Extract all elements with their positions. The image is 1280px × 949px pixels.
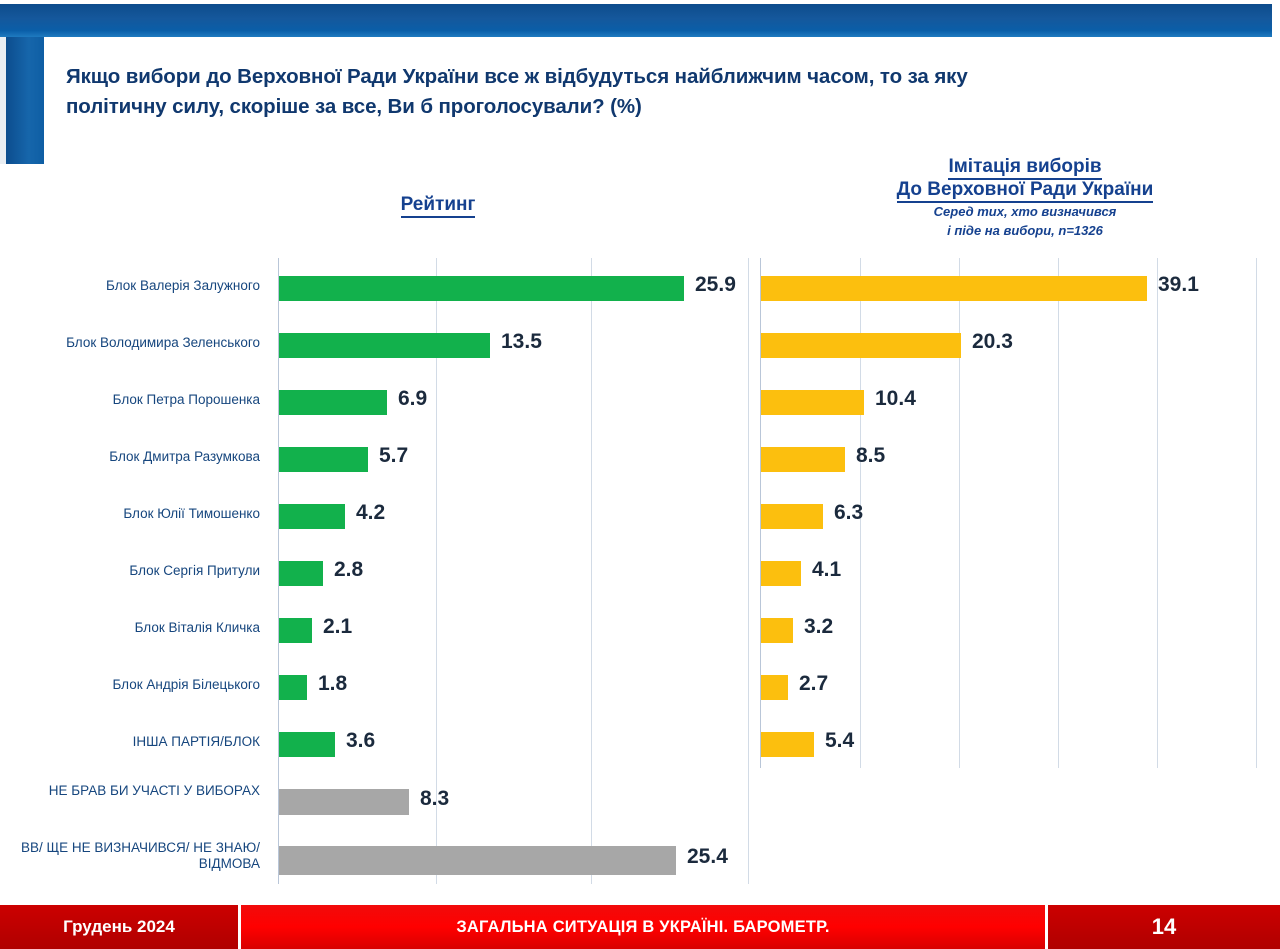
chart-right-header: Імітація виборів До Верховної Ради Украї… bbox=[790, 155, 1260, 239]
bar-value-label-left: 25.9 bbox=[695, 273, 736, 297]
slide-root: Якщо вибори до Верховної Ради України вс… bbox=[0, 0, 1280, 949]
chart-right-plot-area: 39.120.310.48.56.34.13.22.75.4 bbox=[760, 258, 1260, 768]
category-label: Блок Дмитра Разумкова bbox=[0, 449, 260, 465]
bar-left bbox=[279, 789, 409, 815]
bar-value-label-right: 10.4 bbox=[875, 387, 916, 411]
gridline-right-3 bbox=[1157, 258, 1158, 768]
bar-right bbox=[761, 504, 823, 529]
chart-left-plot-area: 25.913.56.95.74.22.82.11.83.68.325.4 bbox=[278, 258, 748, 884]
category-label: Блок Юлії Тимошенко bbox=[0, 506, 260, 522]
gridline-left-1 bbox=[591, 258, 592, 884]
bar-left bbox=[279, 846, 676, 875]
bar-left bbox=[279, 618, 312, 643]
bar-right bbox=[761, 447, 845, 472]
bar-left bbox=[279, 447, 368, 472]
bar-left bbox=[279, 561, 323, 586]
bar-value-label-left: 6.9 bbox=[398, 387, 427, 411]
bar-value-label-right: 2.7 bbox=[799, 672, 828, 696]
chart-left-header: Рейтинг bbox=[338, 194, 538, 216]
gridline-right-4 bbox=[1256, 258, 1257, 768]
category-label: Блок Валерія Залужного bbox=[0, 278, 260, 294]
category-label: ВВ/ ЩЕ НЕ ВИЗНАЧИВСЯ/ НЕ ЗНАЮ/ ВІДМОВА bbox=[0, 840, 260, 872]
category-label: Блок Сергія Притули bbox=[0, 563, 260, 579]
gridline-right-2 bbox=[1058, 258, 1059, 768]
bar-value-label-left: 5.7 bbox=[379, 444, 408, 468]
bar-value-label-right: 3.2 bbox=[804, 615, 833, 639]
chart-right-subtitle-line1: Серед тих, хто визначився bbox=[790, 204, 1260, 220]
bar-value-label-right: 8.5 bbox=[856, 444, 885, 468]
bar-value-label-left: 2.1 bbox=[323, 615, 352, 639]
category-label: Блок Петра Порошенка bbox=[0, 392, 260, 408]
bar-value-label-right: 4.1 bbox=[812, 558, 841, 582]
page-title: Якщо вибори до Верховної Ради України вс… bbox=[66, 62, 1026, 122]
bar-value-label-left: 2.8 bbox=[334, 558, 363, 582]
bar-left bbox=[279, 333, 490, 358]
bar-value-label-left: 13.5 bbox=[501, 330, 542, 354]
decorative-blue-left-bar bbox=[6, 37, 44, 164]
footer-section-title: ЗАГАЛЬНА СИТУАЦІЯ В УКРАЇНІ. БАРОМЕТР. bbox=[241, 905, 1045, 949]
bar-right bbox=[761, 390, 864, 415]
bar-left bbox=[279, 675, 307, 700]
bar-value-label-right: 20.3 bbox=[972, 330, 1013, 354]
chart-right-subtitle-line2: і піде на вибори, n=1326 bbox=[790, 223, 1260, 239]
chart-right-header-line2: До Верховної Ради України bbox=[790, 178, 1260, 201]
bar-left bbox=[279, 390, 387, 415]
bar-left bbox=[279, 732, 335, 757]
category-label: Блок Андрія Білецького bbox=[0, 677, 260, 693]
footer-page-number: 14 bbox=[1048, 905, 1280, 949]
chart-left-header-label: Рейтинг bbox=[401, 194, 476, 218]
gridline-left-2 bbox=[748, 258, 749, 884]
decorative-blue-top-bar bbox=[0, 4, 1272, 37]
footer-date: Грудень 2024 bbox=[0, 905, 238, 949]
chart-right-header-line1: Імітація виборів bbox=[790, 155, 1260, 178]
bar-value-label-right: 5.4 bbox=[825, 729, 854, 753]
category-label: НЕ БРАВ БИ УЧАСТІ У ВИБОРАХ bbox=[0, 783, 260, 799]
bar-right bbox=[761, 618, 793, 643]
bar-right bbox=[761, 675, 788, 700]
bar-left bbox=[279, 276, 684, 301]
category-label: Блок Володимира Зеленського bbox=[0, 335, 260, 351]
bar-value-label-left: 4.2 bbox=[356, 501, 385, 525]
bar-value-label-right: 6.3 bbox=[834, 501, 863, 525]
bar-right bbox=[761, 732, 814, 757]
bar-value-label-left: 25.4 bbox=[687, 845, 728, 869]
bar-value-label-left: 8.3 bbox=[420, 787, 449, 811]
bar-left bbox=[279, 504, 345, 529]
bar-right bbox=[761, 333, 961, 358]
bar-value-label-left: 1.8 bbox=[318, 672, 347, 696]
category-label: Блок Віталія Кличка bbox=[0, 620, 260, 636]
bar-right bbox=[761, 276, 1147, 301]
bar-value-label-left: 3.6 bbox=[346, 729, 375, 753]
category-label: ІНША ПАРТІЯ/БЛОК bbox=[0, 734, 260, 750]
bar-right bbox=[761, 561, 801, 586]
bar-value-label-right: 39.1 bbox=[1158, 273, 1199, 297]
footer-bar: Грудень 2024 ЗАГАЛЬНА СИТУАЦІЯ В УКРАЇНІ… bbox=[0, 905, 1280, 949]
